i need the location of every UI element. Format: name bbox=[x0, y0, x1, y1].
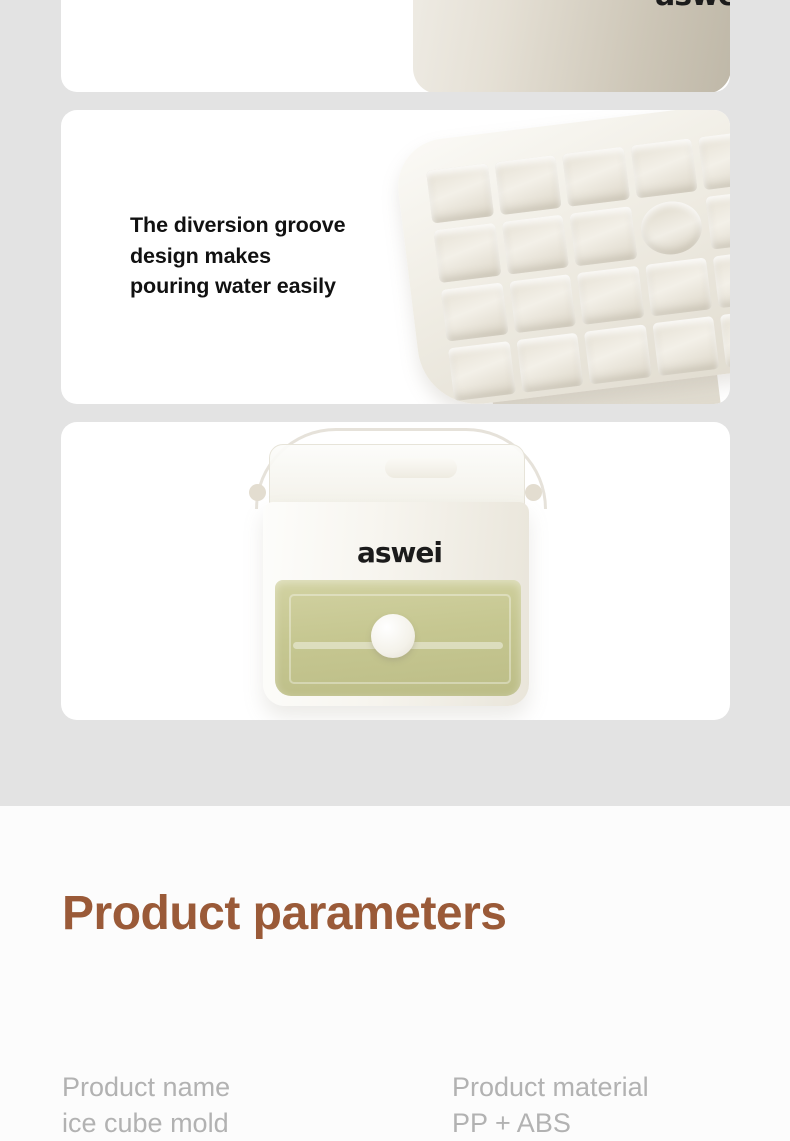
tray-cell bbox=[509, 274, 577, 334]
brand-logo: aswei bbox=[357, 536, 442, 569]
tray-cell bbox=[448, 341, 516, 401]
product-parameters-heading: Product parameters bbox=[62, 890, 507, 938]
tray-cell bbox=[577, 265, 645, 325]
tray-cavity-grid bbox=[426, 130, 730, 401]
caption-line-3: pouring water easily bbox=[130, 271, 420, 302]
parameter-label: Product material bbox=[452, 1072, 649, 1102]
tray-cell bbox=[426, 163, 494, 223]
handle-hinge-left bbox=[249, 484, 266, 501]
gallery-panel-diversion-groove[interactable]: The diversion groove design makes pourin… bbox=[61, 110, 730, 404]
tray-shell bbox=[393, 110, 730, 404]
parameter-label: Product name bbox=[62, 1072, 230, 1102]
caption-line-2: design makes bbox=[130, 241, 420, 272]
caption-line-1: The diversion groove bbox=[130, 210, 420, 241]
panel-caption: The diversion groove design makes pourin… bbox=[130, 210, 420, 302]
parameter-value: ice cube mold bbox=[62, 1106, 230, 1141]
product-body bbox=[413, 0, 730, 92]
tray-diversion-groove-hole bbox=[638, 198, 706, 258]
tray-cell bbox=[501, 214, 569, 274]
ice-cube-tray bbox=[385, 110, 730, 404]
ice-maker-box: aswei bbox=[233, 428, 563, 718]
parameter-column-product-material: Product material PP + ABS bbox=[452, 1070, 649, 1141]
product-parameters-section bbox=[0, 806, 790, 1105]
gallery-panel-full-unit[interactable]: aswei bbox=[61, 422, 730, 720]
parameter-value: PP + ABS bbox=[452, 1106, 649, 1141]
drawer-pull-knob bbox=[371, 614, 415, 658]
gallery-panel-lid-closeup[interactable]: aswei bbox=[61, 0, 730, 92]
tray-cell bbox=[441, 282, 509, 342]
tray-cell bbox=[562, 147, 630, 207]
tray-cell bbox=[652, 316, 720, 376]
lid-knob bbox=[385, 458, 457, 478]
tray-cell bbox=[720, 308, 730, 368]
parameter-column-product-name: Product name ice cube mold bbox=[62, 1070, 230, 1141]
tray-cell bbox=[713, 249, 730, 309]
tray-cell bbox=[516, 333, 584, 393]
tray-cell bbox=[433, 223, 501, 283]
gallery-section: aswei bbox=[0, 0, 790, 806]
brand-logo: aswei bbox=[655, 0, 730, 13]
tray-cell bbox=[706, 189, 730, 249]
handle-hinge-right bbox=[525, 484, 542, 501]
tray-cell bbox=[494, 155, 562, 215]
tray-cell bbox=[698, 130, 730, 190]
tray-cell bbox=[570, 206, 638, 266]
tray-cell bbox=[630, 138, 698, 198]
tray-cell bbox=[645, 257, 713, 317]
tray-cell bbox=[584, 325, 652, 385]
